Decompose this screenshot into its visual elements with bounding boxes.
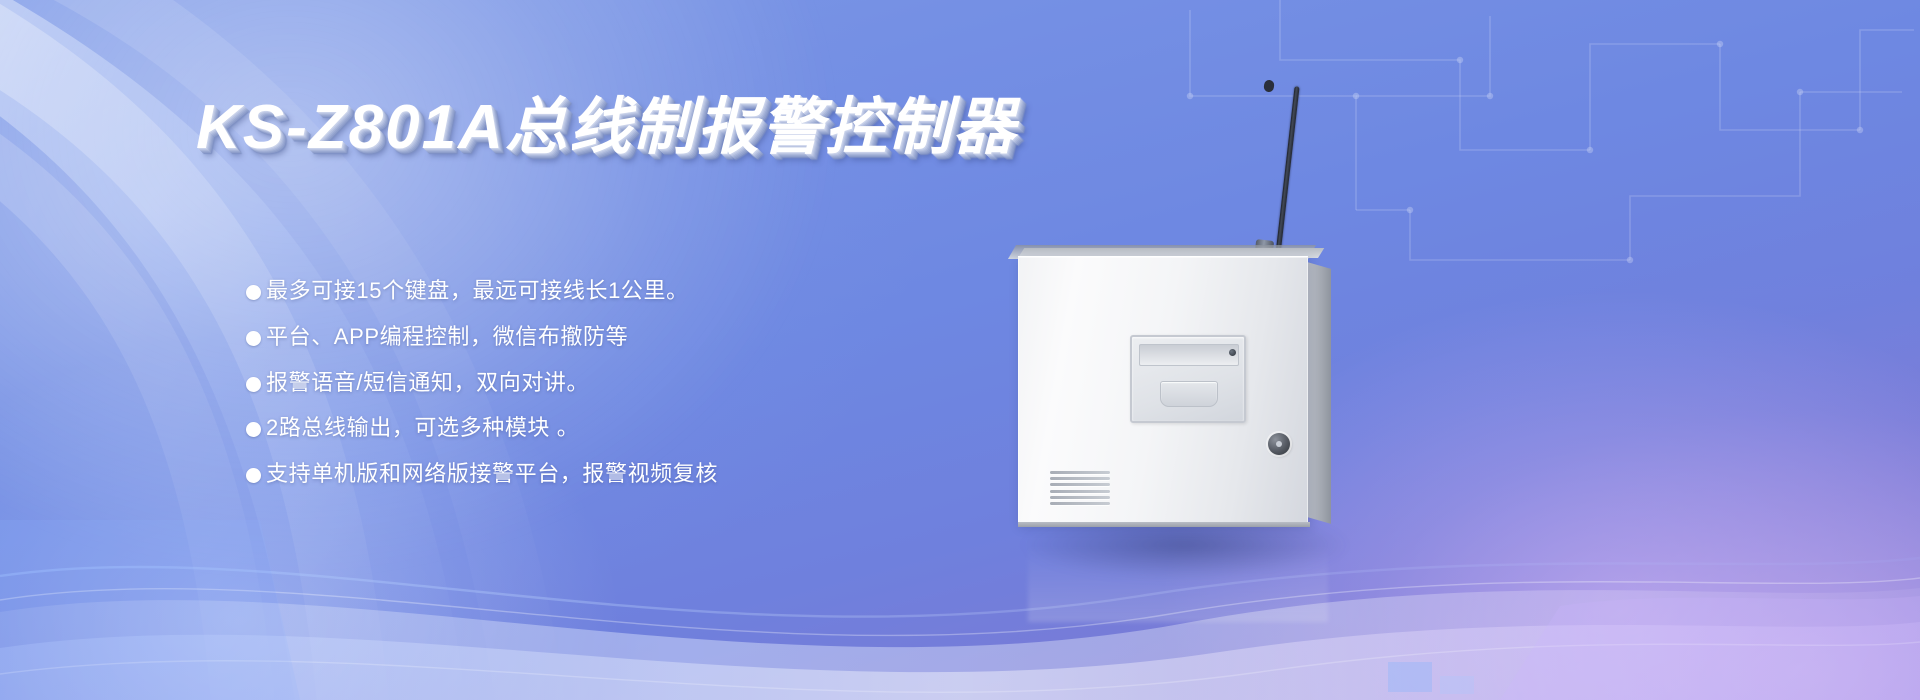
feature-text: 2路总线输出，可选多种模块 。 (266, 415, 579, 442)
antenna-tip-icon (1263, 79, 1274, 92)
lock-keyhole (1276, 441, 1282, 447)
feature-text: 平台、APP编程控制，微信布撤防等 (266, 324, 628, 351)
feature-list: 最多可接15个键盘，最远可接线长1公里。 平台、APP编程控制，微信布撤防等 报… (246, 278, 1006, 507)
bullet-dot-icon (246, 468, 261, 483)
paper-slot (1139, 344, 1239, 366)
bullet-dot-icon (246, 377, 261, 392)
list-item: 最多可接15个键盘，最远可接线长1公里。 (246, 278, 1006, 305)
list-item: 平台、APP编程控制，微信布撤防等 (246, 324, 1006, 351)
page-title: KS-Z801A总线制报警控制器 (196, 76, 1017, 166)
enclosure-right-side (1307, 262, 1331, 524)
key-lock-icon (1268, 433, 1290, 455)
list-item: 支持单机版和网络版接警平台，报警视频复核 (246, 461, 1006, 488)
window-handle (1160, 381, 1218, 407)
product-banner: KS-Z801A总线制报警控制器 最多可接15个键盘，最远可接线长1公里。 平台… (0, 0, 1920, 700)
bullet-dot-icon (246, 422, 261, 437)
bullet-dot-icon (246, 285, 261, 300)
list-item: 2路总线输出，可选多种模块 。 (246, 415, 1006, 442)
status-led-icon (1229, 349, 1236, 356)
feature-text: 最多可接15个键盘，最远可接线长1公里。 (266, 278, 689, 305)
bullet-dot-icon (246, 331, 261, 346)
printer-display-window (1130, 335, 1246, 423)
list-item: 报警语音/短信通知，双向对讲。 (246, 370, 1006, 397)
feature-text: 报警语音/短信通知，双向对讲。 (266, 370, 589, 397)
banner-content: KS-Z801A总线制报警控制器 最多可接15个键盘，最远可接线长1公里。 平台… (0, 0, 1100, 700)
feature-text: 支持单机版和网络版接警平台，报警视频复核 (266, 461, 718, 488)
